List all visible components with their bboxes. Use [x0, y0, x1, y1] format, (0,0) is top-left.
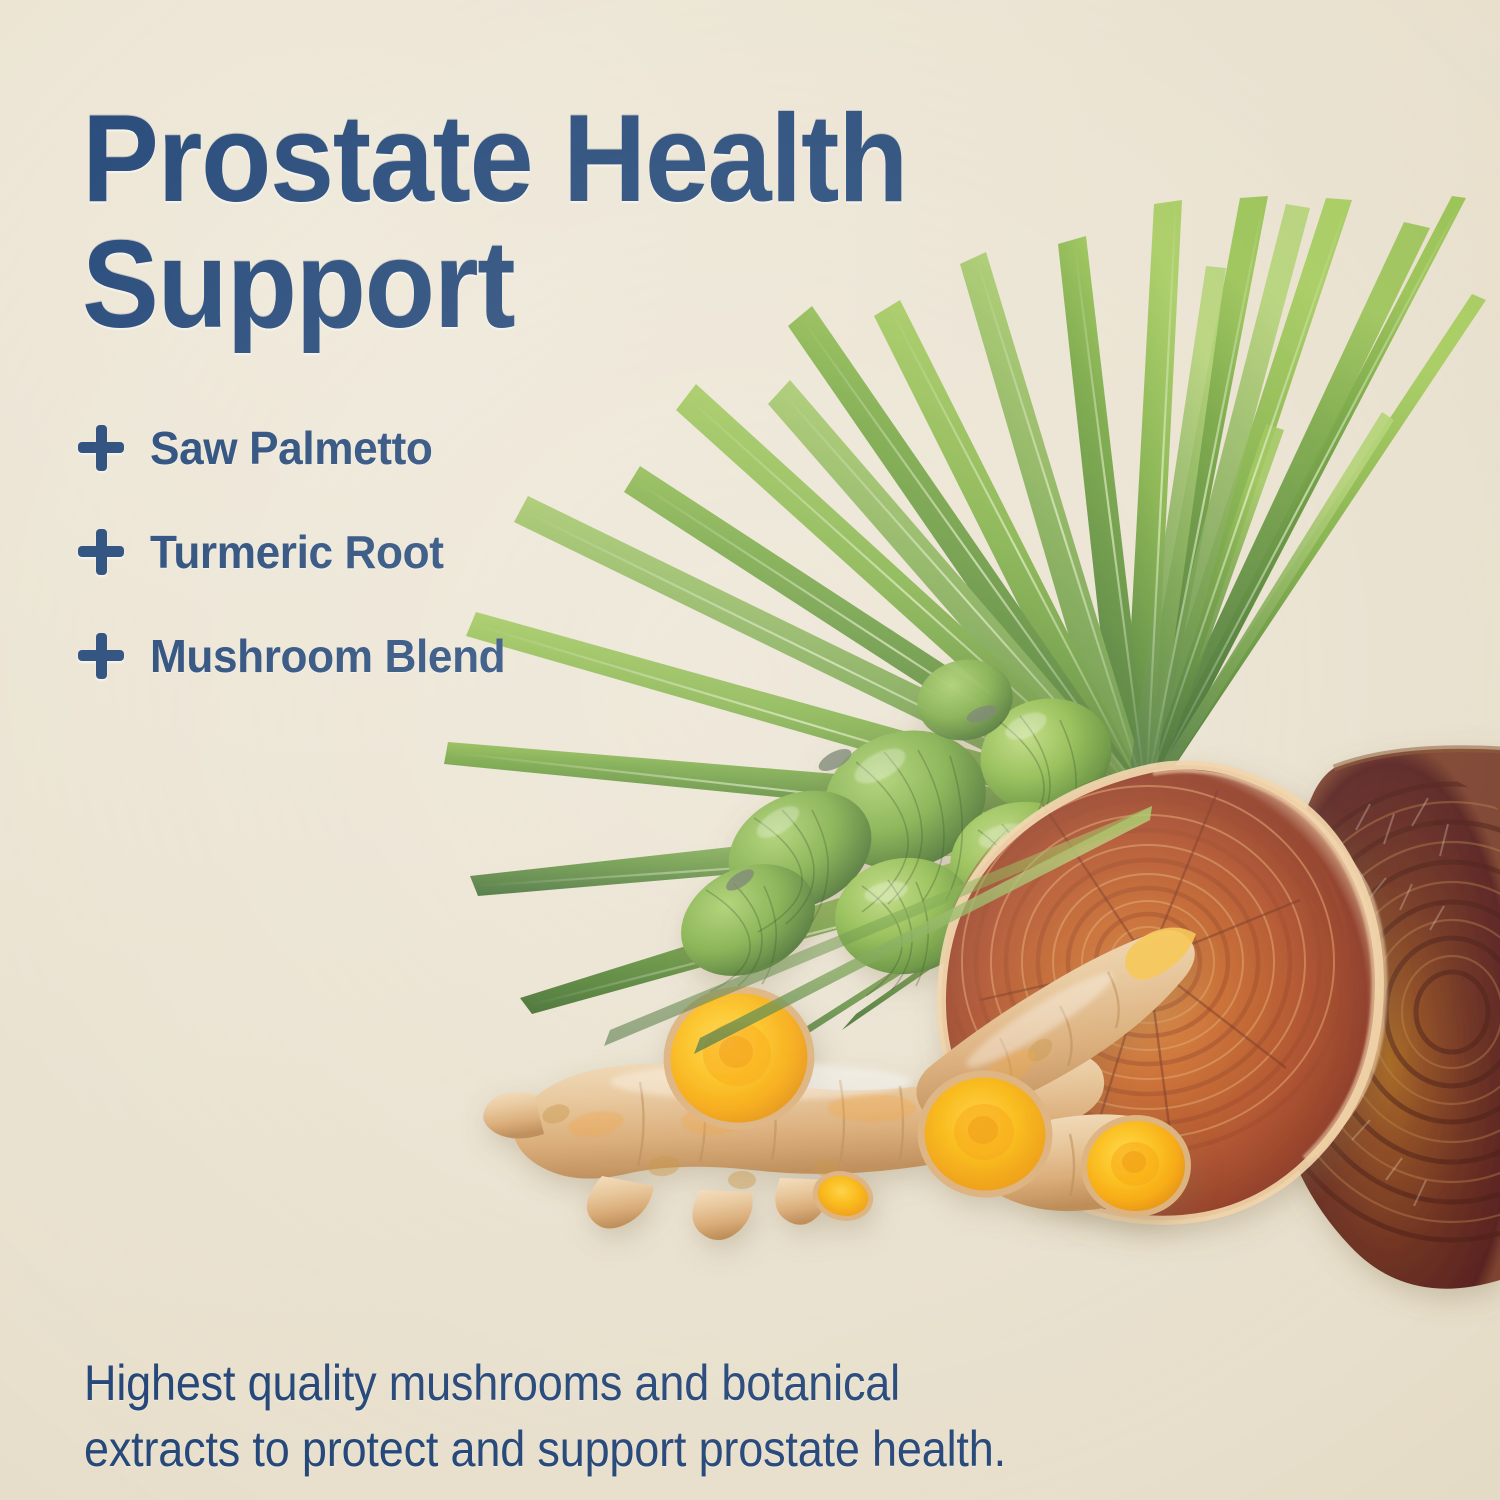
- product-infographic: Prostate Health Support Saw Palmetto Tur…: [0, 0, 1500, 1500]
- list-item: Turmeric Root: [78, 510, 520, 594]
- list-item: Mushroom Blend: [78, 614, 520, 698]
- benefit-label-mushroom-blend: Mushroom Blend: [150, 633, 505, 679]
- plus-icon: [78, 633, 124, 679]
- plus-icon: [78, 425, 124, 471]
- caption-text: Highest quality mushrooms and botanical …: [84, 1350, 1006, 1482]
- benefit-label-turmeric-root: Turmeric Root: [150, 529, 444, 575]
- page-title: Prostate Health Support: [82, 96, 907, 348]
- benefits-list: Saw Palmetto Turmeric Root Mushroom Blen…: [78, 406, 520, 698]
- headline-block: Prostate Health Support: [82, 96, 969, 348]
- plus-icon: [78, 529, 124, 575]
- list-item: Saw Palmetto: [78, 406, 520, 490]
- benefit-label-saw-palmetto: Saw Palmetto: [150, 425, 433, 471]
